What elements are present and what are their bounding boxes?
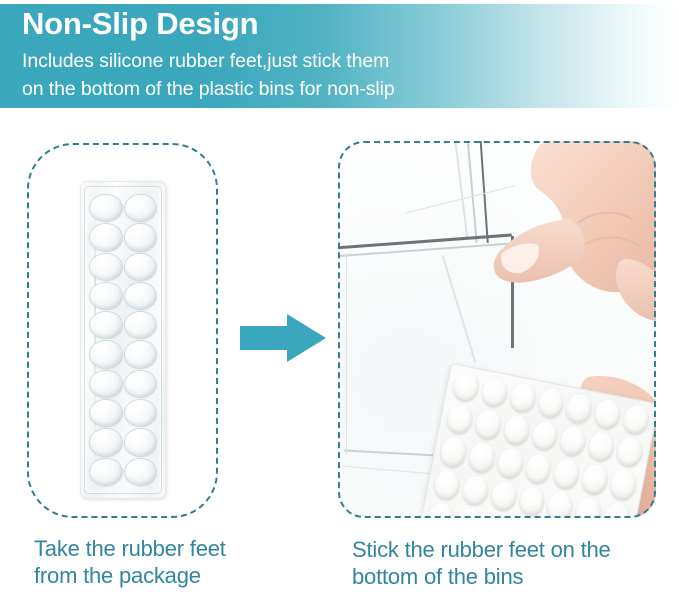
clear-rubber-foot: [90, 429, 122, 455]
clear-rubber-foot: [90, 254, 122, 280]
clear-rubber-foot: [125, 312, 157, 338]
clear-rubber-foot: [125, 459, 157, 485]
clear-rubber-foot: [90, 283, 122, 309]
right-photo-frame: [338, 141, 656, 518]
clear-rubber-foot: [125, 371, 157, 397]
left-step-caption: Take the rubber feet from the package: [34, 536, 239, 589]
clear-rubber-foot: [90, 341, 122, 367]
clear-rubber-foot: [90, 224, 122, 250]
banner-subtitle-line-1: Includes silicone rubber feet,just stick…: [22, 50, 389, 73]
clear-rubber-foot: [125, 224, 157, 250]
clear-rubber-foot: [90, 400, 122, 426]
clear-rubber-foot: [90, 195, 122, 221]
blister-pack-image: [80, 181, 166, 499]
clear-rubber-foot: [125, 429, 157, 455]
clear-rubber-foot: [125, 254, 157, 280]
banner-title: Non-Slip Design: [22, 6, 258, 42]
clear-rubber-foot: [90, 459, 122, 485]
clear-feet-grid: [89, 194, 157, 486]
banner-subtitle-line-2: on the bottom of the plastic bins for no…: [22, 78, 395, 101]
right-step-caption: Stick the rubber feet on the bottom of t…: [352, 537, 652, 590]
clear-rubber-foot: [90, 371, 122, 397]
product-feature-graphic: Non-Slip Design Includes silicone rubber…: [0, 0, 679, 614]
clear-rubber-foot: [125, 341, 157, 367]
step-arrow-icon: [240, 313, 326, 363]
clear-rubber-foot: [90, 312, 122, 338]
header-banner: Non-Slip Design Includes silicone rubber…: [0, 4, 679, 108]
clear-rubber-foot: [125, 195, 157, 221]
clear-rubber-foot: [125, 400, 157, 426]
clear-rubber-foot: [125, 283, 157, 309]
